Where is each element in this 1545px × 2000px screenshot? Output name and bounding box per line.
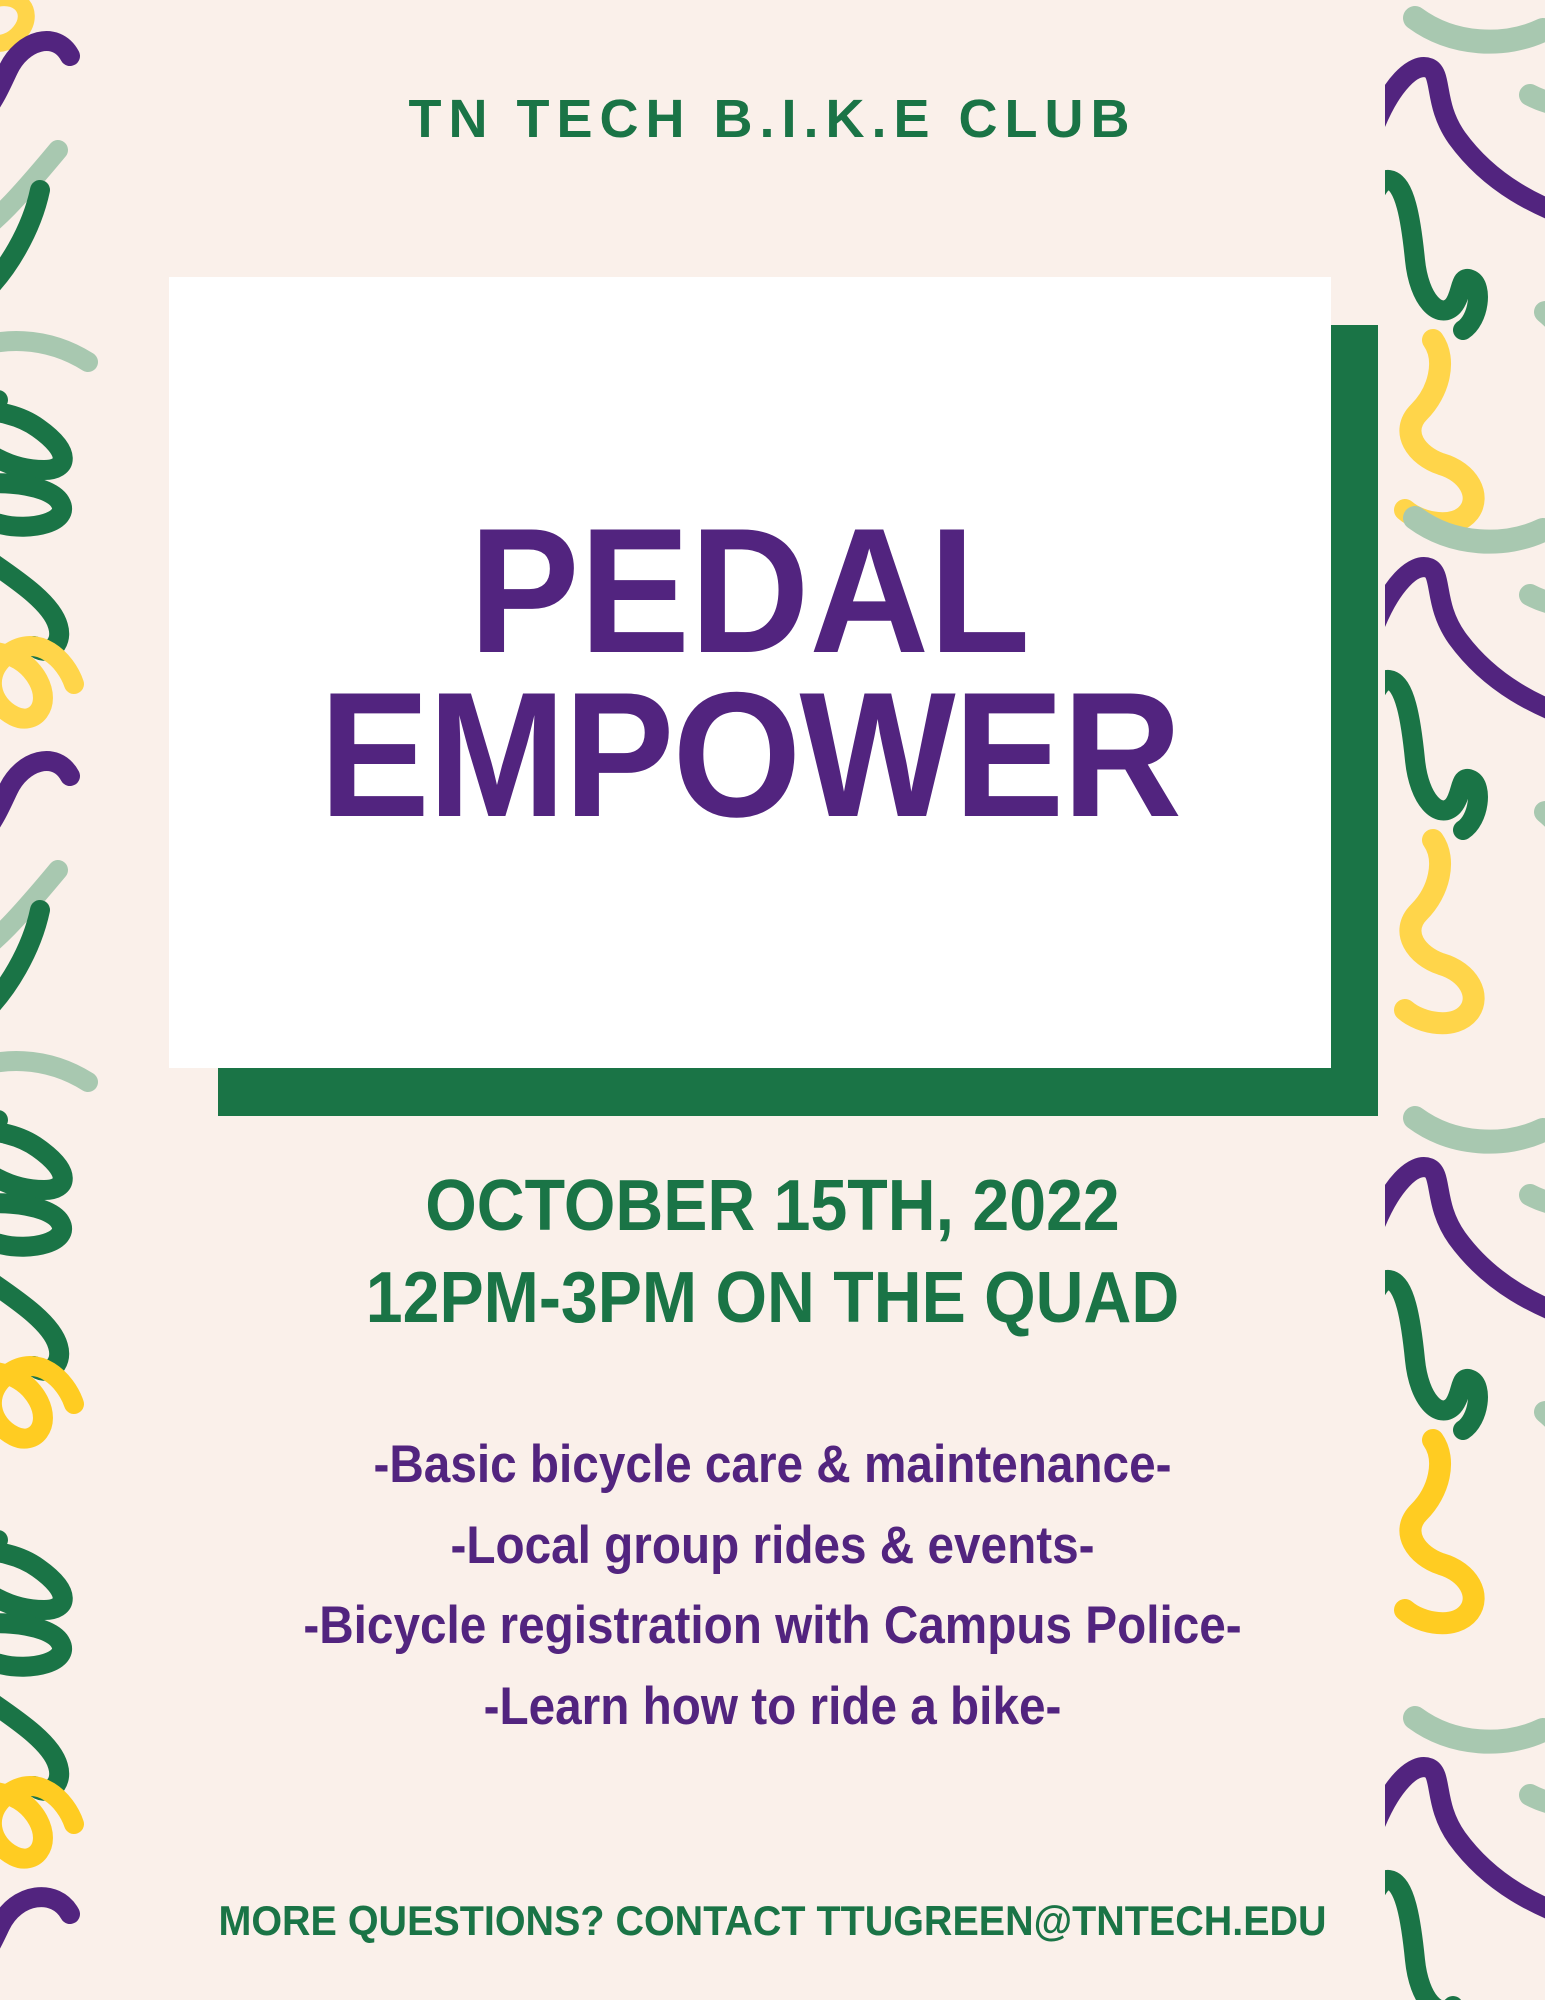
hero-title-group: PEDAL EMPOWER bbox=[169, 277, 1331, 1068]
activity-item: -Basic bicycle care & maintenance- bbox=[77, 1425, 1468, 1506]
event-time-location: 12PM-3PM ON THE QUAD bbox=[62, 1252, 1483, 1344]
contact-footer: MORE QUESTIONS? CONTACT TTUGREEN@TNTECH.… bbox=[0, 1900, 1545, 1942]
poster-canvas: TN TECH B.I.K.E CLUB PEDAL EMPOWER OCTOB… bbox=[0, 0, 1545, 2000]
activity-item: -Learn how to ride a bike- bbox=[77, 1667, 1468, 1748]
event-when-group: OCTOBER 15TH, 2022 12PM-3PM ON THE QUAD bbox=[0, 1160, 1545, 1344]
event-date: OCTOBER 15TH, 2022 bbox=[62, 1160, 1483, 1252]
club-name-heading: TN TECH B.I.K.E CLUB bbox=[0, 92, 1545, 146]
activity-item: -Local group rides & events- bbox=[77, 1506, 1468, 1587]
hero-title-line-2: EMPOWER bbox=[320, 673, 1181, 837]
activities-list: -Basic bicycle care & maintenance- -Loca… bbox=[0, 1425, 1545, 1747]
contact-text: MORE QUESTIONS? CONTACT TTUGREEN@TNTECH.… bbox=[46, 1900, 1498, 1942]
activity-item: -Bicycle registration with Campus Police… bbox=[77, 1586, 1468, 1667]
hero-title-line-1: PEDAL bbox=[469, 509, 1030, 673]
